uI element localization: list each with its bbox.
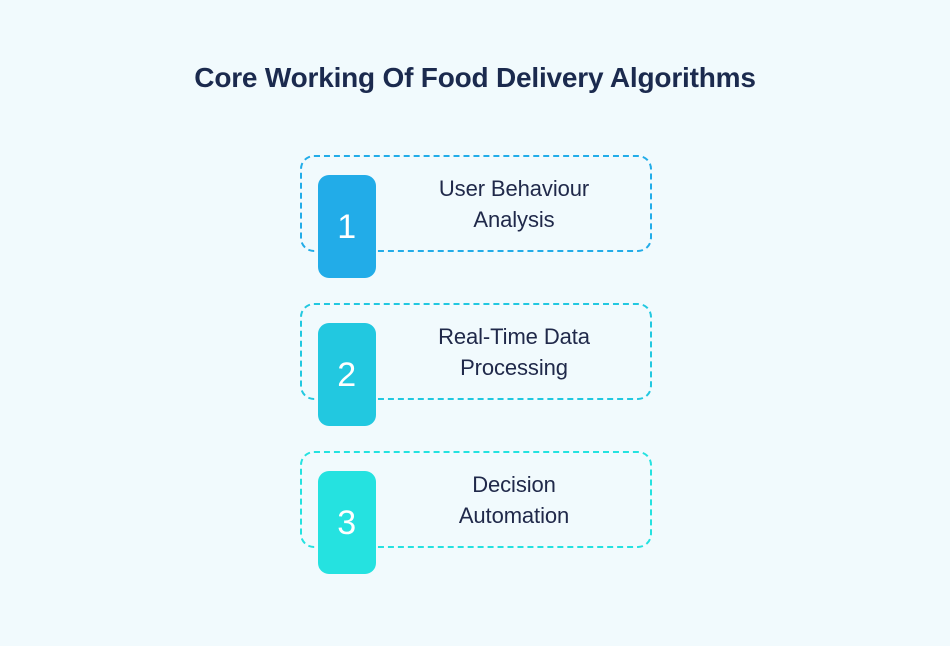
step-label-1-line-2: Analysis bbox=[439, 204, 589, 235]
step-label-1-text: User BehaviourAnalysis bbox=[439, 173, 589, 235]
list-item: 2 Real-Time DataProcessing bbox=[300, 303, 652, 400]
step-label-3-line-2: Automation bbox=[459, 500, 569, 531]
step-label-3: DecisionAutomation bbox=[386, 451, 652, 548]
step-number-1: 1 bbox=[337, 210, 356, 244]
step-number-3: 3 bbox=[337, 506, 356, 540]
step-label-3-line-1: Decision bbox=[459, 469, 569, 500]
step-badge-2: 2 bbox=[318, 323, 376, 426]
step-label-2-line-2: Processing bbox=[438, 352, 590, 383]
list-item: 3 DecisionAutomation bbox=[300, 451, 652, 548]
step-label-1-line-1: User Behaviour bbox=[439, 173, 589, 204]
step-label-3-text: DecisionAutomation bbox=[459, 469, 569, 531]
list-item: 1 User BehaviourAnalysis bbox=[300, 155, 652, 252]
steps-list: 1 User BehaviourAnalysis 2 Real-Time Dat… bbox=[300, 155, 652, 599]
step-label-2-line-1: Real-Time Data bbox=[438, 321, 590, 352]
step-label-2: Real-Time DataProcessing bbox=[386, 303, 652, 400]
step-label-2-text: Real-Time DataProcessing bbox=[438, 321, 590, 383]
step-badge-3: 3 bbox=[318, 471, 376, 574]
infographic-canvas: Core Working Of Food Delivery Algorithms… bbox=[0, 0, 950, 646]
step-badge-1: 1 bbox=[318, 175, 376, 278]
step-number-2: 2 bbox=[337, 358, 356, 392]
page-title: Core Working Of Food Delivery Algorithms bbox=[0, 58, 950, 98]
step-label-1: User BehaviourAnalysis bbox=[386, 155, 652, 252]
